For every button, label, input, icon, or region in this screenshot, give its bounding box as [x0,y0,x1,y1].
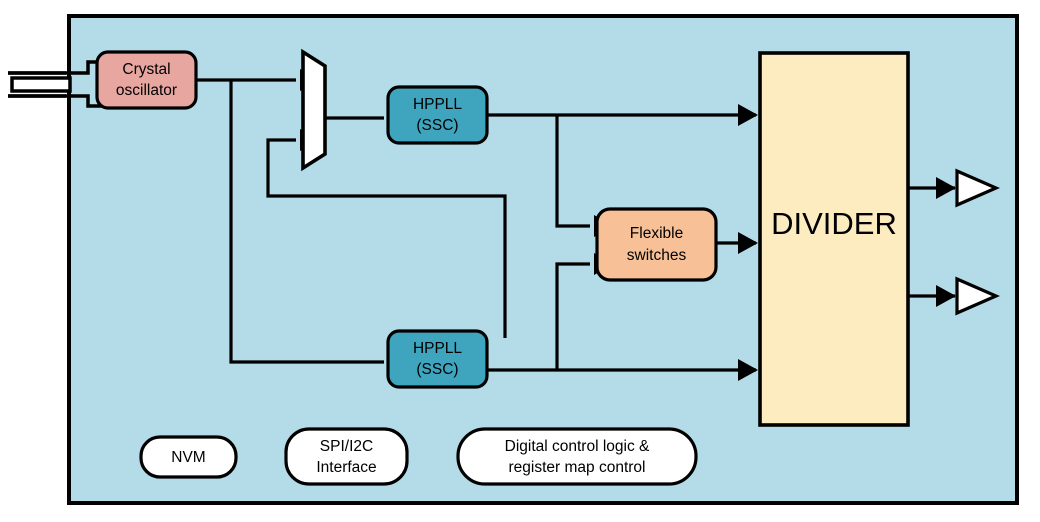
spi-i2c-label-line1: SPI/I2C [320,438,373,455]
spi-i2c-interface-block[interactable]: SPI/I2C Interface [286,429,407,484]
flexible-switches-block[interactable]: Flexible switches [597,209,716,280]
nvm-label: NVM [171,449,205,466]
flexible-switches-label-line1: Flexible [630,225,683,242]
hppll-top-block[interactable]: HPPLL (SSC) [388,87,487,143]
divider-block[interactable]: DIVIDER [760,53,908,425]
hppll-bottom-label-line1: HPPLL [413,340,462,357]
crystal-oscillator-label-line2: oscillator [116,82,177,99]
nvm-block[interactable]: NVM [141,437,236,477]
input-multiplexer[interactable] [303,52,325,168]
hppll-top-label-line1: HPPLL [413,96,462,113]
hppll-bottom-block[interactable]: HPPLL (SSC) [388,331,487,387]
hppll-top-label-line2: (SSC) [416,117,458,134]
divider-label: DIVIDER [771,206,897,241]
flexible-switches-label-line2: switches [627,247,687,264]
digital-control-label-line2: register map control [509,459,646,476]
crystal-oscillator-block[interactable]: Crystal oscillator [97,52,196,108]
hppll-bottom-label-line2: (SSC) [416,361,458,378]
spi-i2c-label-line2: Interface [316,459,376,476]
diagram-canvas: Crystal oscillator HPPLL (SSC) HPPLL (SS… [0,0,1040,522]
crystal-oscillator-label-line1: Crystal [122,61,170,78]
digital-control-label-line1: Digital control logic & [505,438,650,455]
digital-control-block[interactable]: Digital control logic & register map con… [458,429,696,484]
block-diagram: Crystal oscillator HPPLL (SSC) HPPLL (SS… [0,0,1040,522]
